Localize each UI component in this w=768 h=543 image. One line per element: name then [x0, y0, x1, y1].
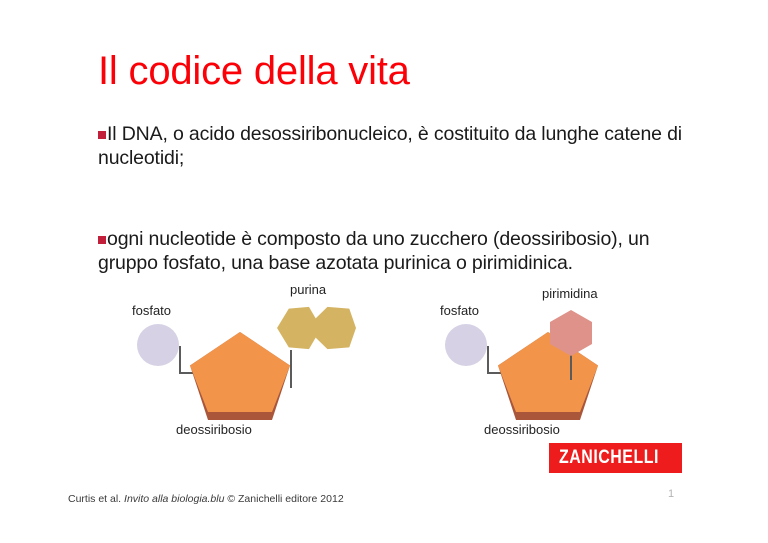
bullet-item-2-text: ogni nucleotide è composto da uno zucche…: [98, 228, 649, 274]
pentagon-body: [190, 332, 290, 412]
page-number: 1: [668, 488, 674, 500]
phosphate-circle-icon: [445, 324, 487, 366]
footer-author: Curtis et al.: [68, 493, 121, 505]
zanichelli-logo: ZANICHELLI: [549, 443, 682, 473]
base-label: purina: [290, 282, 326, 297]
bullet-square-icon: [98, 236, 106, 244]
zanichelli-logo-text: ZANICHELLI: [559, 447, 659, 469]
footer-credit: Curtis et al. Invito alla biologia.blu ©…: [68, 492, 344, 506]
nucleotide-figure: fosfato deossiribosio purina fosfato: [0, 280, 768, 445]
footer-copyright: © Zanichelli editore 2012: [227, 493, 343, 505]
base-label: pirimidina: [542, 286, 598, 301]
base-connector-line: [290, 350, 292, 388]
bullet-square-icon: [98, 131, 106, 139]
page-title: Il codice della vita: [98, 48, 718, 94]
sugar-label: deossiribosio: [484, 422, 560, 437]
bullet-item-2: ogni nucleotide è composto da uno zucche…: [98, 227, 698, 275]
nucleotide-diagram-purine: fosfato deossiribosio purina: [130, 280, 380, 445]
bullet-item-1-text: Il DNA, o acido desossiribonucleico, è c…: [98, 123, 682, 169]
phosphate-label: fosfato: [440, 303, 479, 318]
bullet-item-1: Il DNA, o acido desossiribonucleico, è c…: [98, 122, 698, 170]
slide-canvas: Il codice della vita Il DNA, o acido des…: [0, 0, 768, 543]
sugar-label: deossiribosio: [176, 422, 252, 437]
phosphate-label: fosfato: [132, 303, 171, 318]
nucleotide-diagram-pyrimidine: fosfato deossiribosio pirimidina: [438, 280, 688, 445]
bullet-list: Il DNA, o acido desossiribonucleico, è c…: [98, 122, 698, 275]
footer-book-title: Invito alla biologia.blu: [124, 493, 224, 505]
deoxyribose-pentagon-icon: [190, 332, 290, 420]
phosphate-circle-icon: [137, 324, 179, 366]
